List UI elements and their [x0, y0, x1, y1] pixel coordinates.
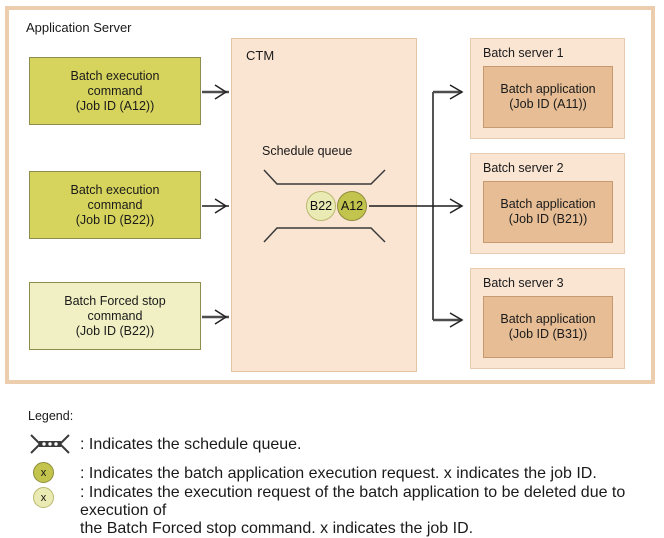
cmd-line-2: command: [88, 198, 143, 213]
legend-item-1-text: : Indicates the schedule queue.: [80, 436, 302, 454]
server-title: Batch server 3: [483, 276, 564, 290]
token-dark-icon: x: [33, 462, 54, 483]
app-line-2: (Job ID (B21)): [509, 212, 588, 227]
token-pale-icon: x: [33, 487, 54, 508]
cmd-line-3: (Job ID (B22)): [76, 213, 155, 228]
batch-application-b31-box[interactable]: Batch application (Job ID (B31)): [483, 296, 613, 358]
cmd-line-2: command: [88, 84, 143, 99]
cmd-line-1: Batch execution: [71, 183, 160, 198]
batch-application-b21-box[interactable]: Batch application (Job ID (B21)): [483, 181, 613, 243]
batch-execution-command-a12-box[interactable]: Batch execution command (Job ID (A12)): [29, 57, 201, 125]
ctm-label: CTM: [246, 48, 274, 63]
batch-server-3-box[interactable]: Batch server 3 Batch application (Job ID…: [470, 268, 625, 369]
batch-server-2-box[interactable]: Batch server 2 Batch application (Job ID…: [470, 153, 625, 254]
legend-item-3-text: : Indicates the execution request of the…: [80, 484, 664, 538]
legend-item-2-text: : Indicates the batch application execut…: [80, 465, 597, 483]
server-title: Batch server 2: [483, 161, 564, 175]
server-title: Batch server 1: [483, 46, 564, 60]
legend-title: Legend:: [28, 409, 73, 423]
batch-forced-stop-command-b22-box[interactable]: Batch Forced stop command (Job ID (B22)): [29, 282, 201, 350]
schedule-queue-icon: [28, 432, 72, 456]
queue-token-b22[interactable]: B22: [306, 191, 336, 221]
queue-token-a12[interactable]: A12: [337, 191, 367, 221]
app-line-2: (Job ID (B31)): [509, 327, 588, 342]
app-line-1: Batch application: [500, 312, 595, 327]
cmd-line-3: (Job ID (B22)): [76, 324, 155, 339]
batch-execution-command-b22-box[interactable]: Batch execution command (Job ID (B22)): [29, 171, 201, 239]
batch-server-1-box[interactable]: Batch server 1 Batch application (Job ID…: [470, 38, 625, 139]
app-line-1: Batch application: [500, 82, 595, 97]
batch-application-a11-box[interactable]: Batch application (Job ID (A11)): [483, 66, 613, 128]
cmd-line-1: Batch Forced stop: [64, 294, 165, 309]
app-line-2: (Job ID (A11)): [509, 97, 587, 112]
cmd-line-3: (Job ID (A12)): [76, 99, 155, 114]
schedule-queue-label: Schedule queue: [262, 144, 352, 158]
app-line-1: Batch application: [500, 197, 595, 212]
cmd-line-2: command: [88, 309, 143, 324]
application-server-title: Application Server: [26, 20, 132, 35]
cmd-line-1: Batch execution: [71, 69, 160, 84]
